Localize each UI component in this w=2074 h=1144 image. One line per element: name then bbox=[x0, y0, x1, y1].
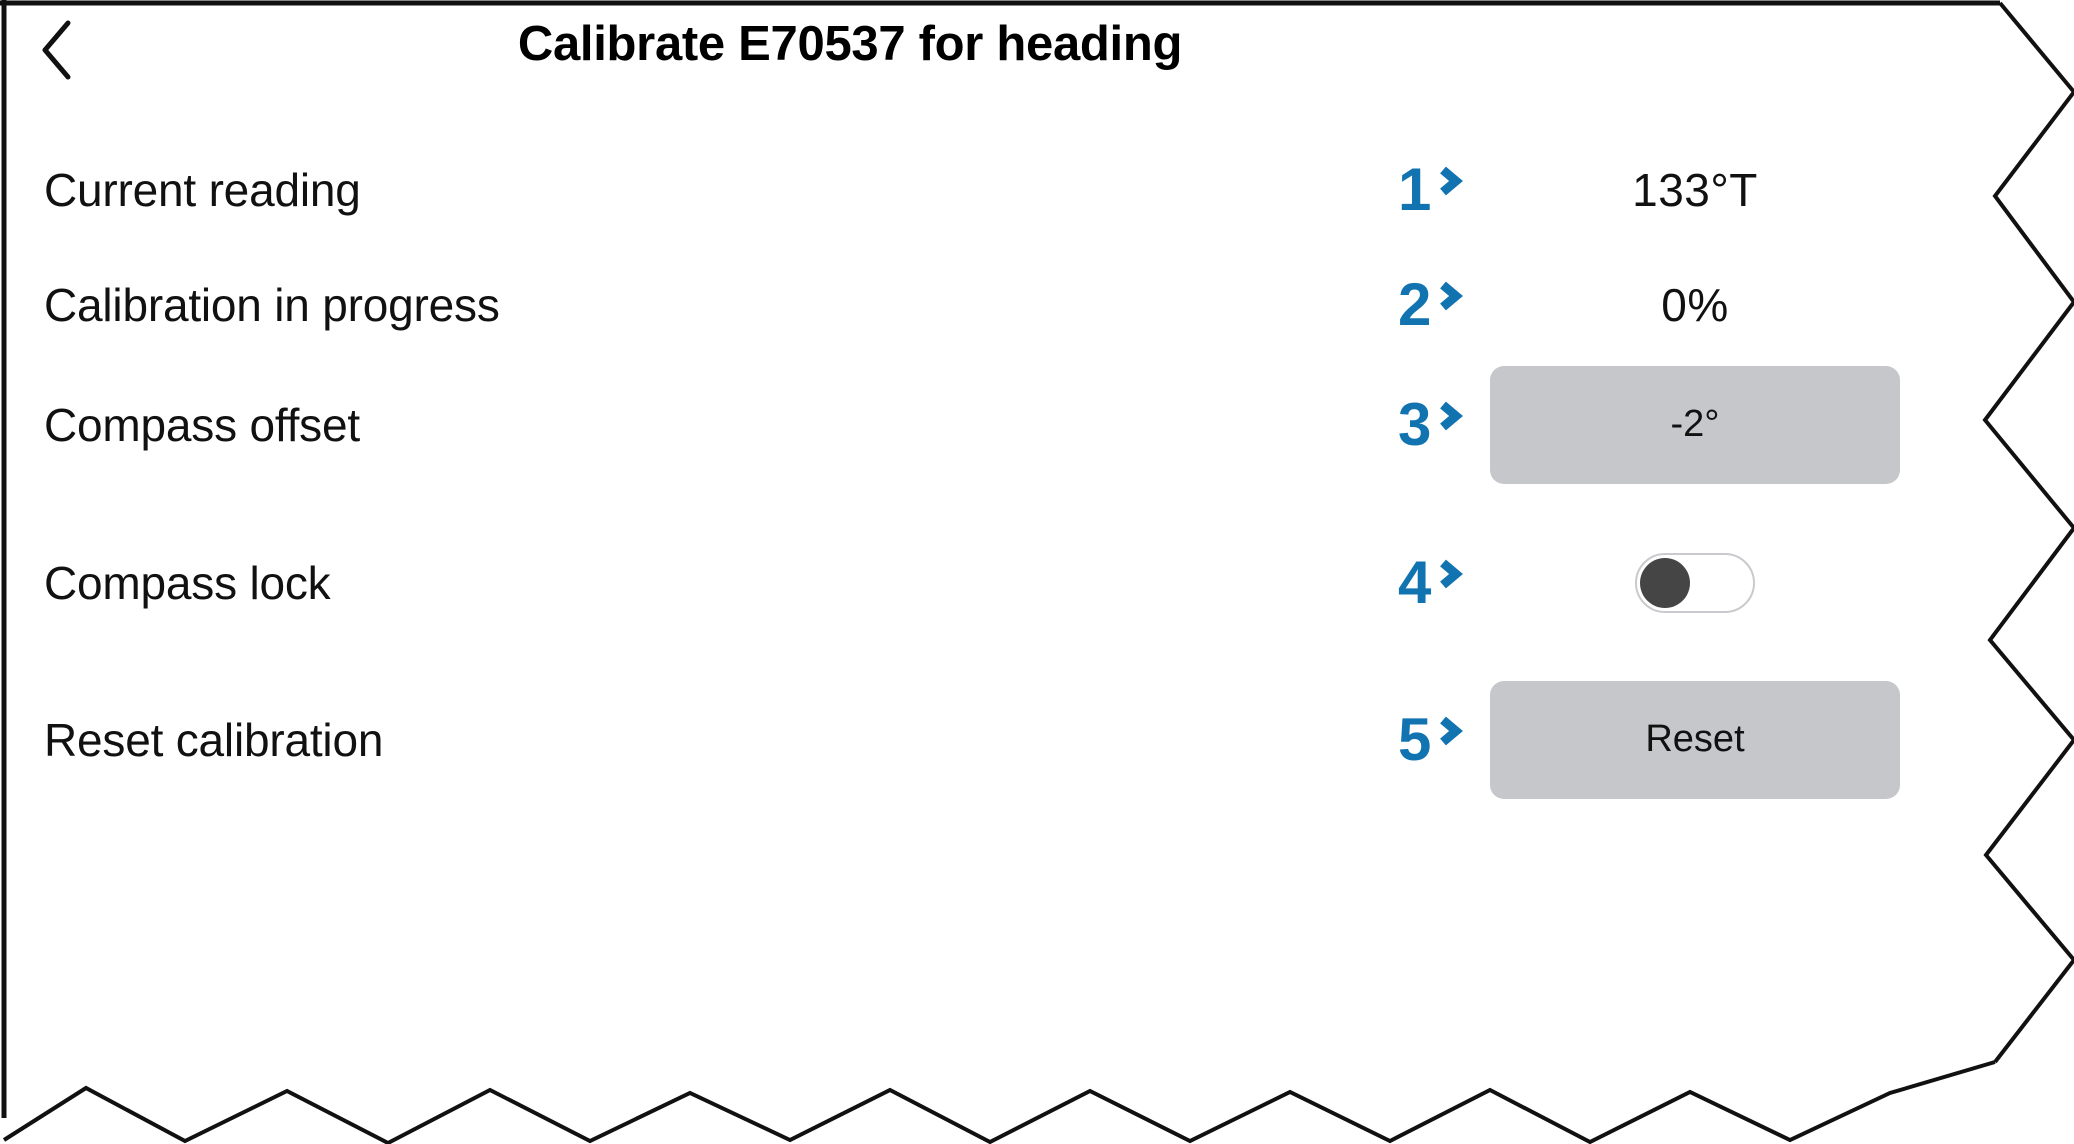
step-marker-1-number: 1 bbox=[1398, 160, 1430, 220]
row-compass-lock: Compass lock 4 bbox=[0, 495, 1900, 670]
step-marker-4-number: 4 bbox=[1398, 553, 1430, 613]
value-slot-current-reading: 133°T bbox=[1490, 163, 1900, 217]
row-compass-offset: Compass offset 3 -2° bbox=[0, 337, 1900, 512]
step-marker-3-number: 3 bbox=[1398, 395, 1430, 455]
step-marker-5-number: 5 bbox=[1398, 710, 1430, 770]
step-marker-3: 3 bbox=[1398, 395, 1468, 455]
screen-header: Calibrate E70537 for heading bbox=[0, 0, 1900, 100]
row-reset-calibration: Reset calibration 5 Reset bbox=[0, 652, 1900, 827]
calibration-progress-value: 0% bbox=[1661, 278, 1728, 332]
row-label-current-reading: Current reading bbox=[44, 163, 361, 217]
calibration-screen: Calibrate E70537 for heading Current rea… bbox=[0, 0, 2074, 1144]
value-slot-compass-offset: -2° bbox=[1490, 366, 1900, 484]
row-label-compass-lock: Compass lock bbox=[44, 556, 330, 610]
toggle-knob bbox=[1640, 558, 1690, 608]
reset-calibration-button[interactable]: Reset bbox=[1490, 681, 1900, 799]
step-marker-2: 2 bbox=[1398, 275, 1468, 335]
row-label-compass-offset: Compass offset bbox=[44, 398, 360, 452]
caret-right-icon bbox=[1434, 399, 1468, 437]
step-marker-5: 5 bbox=[1398, 710, 1468, 770]
step-marker-1: 1 bbox=[1398, 160, 1468, 220]
row-label-reset-calibration: Reset calibration bbox=[44, 713, 383, 767]
row-label-calibration-progress: Calibration in progress bbox=[44, 278, 500, 332]
value-slot-compass-lock bbox=[1490, 553, 1900, 613]
row-current-reading: Current reading 1 133°T bbox=[0, 130, 1900, 250]
compass-lock-toggle[interactable] bbox=[1635, 553, 1755, 613]
caret-right-icon bbox=[1434, 279, 1468, 317]
step-marker-2-number: 2 bbox=[1398, 275, 1430, 335]
value-slot-calibration-progress: 0% bbox=[1490, 278, 1900, 332]
page-title: Calibrate E70537 for heading bbox=[0, 16, 1700, 72]
caret-right-icon bbox=[1434, 557, 1468, 595]
step-marker-4: 4 bbox=[1398, 553, 1468, 613]
caret-right-icon bbox=[1434, 164, 1468, 202]
compass-offset-button[interactable]: -2° bbox=[1490, 366, 1900, 484]
caret-right-icon bbox=[1434, 714, 1468, 752]
value-slot-reset-calibration: Reset bbox=[1490, 681, 1900, 799]
current-reading-value: 133°T bbox=[1632, 163, 1758, 217]
